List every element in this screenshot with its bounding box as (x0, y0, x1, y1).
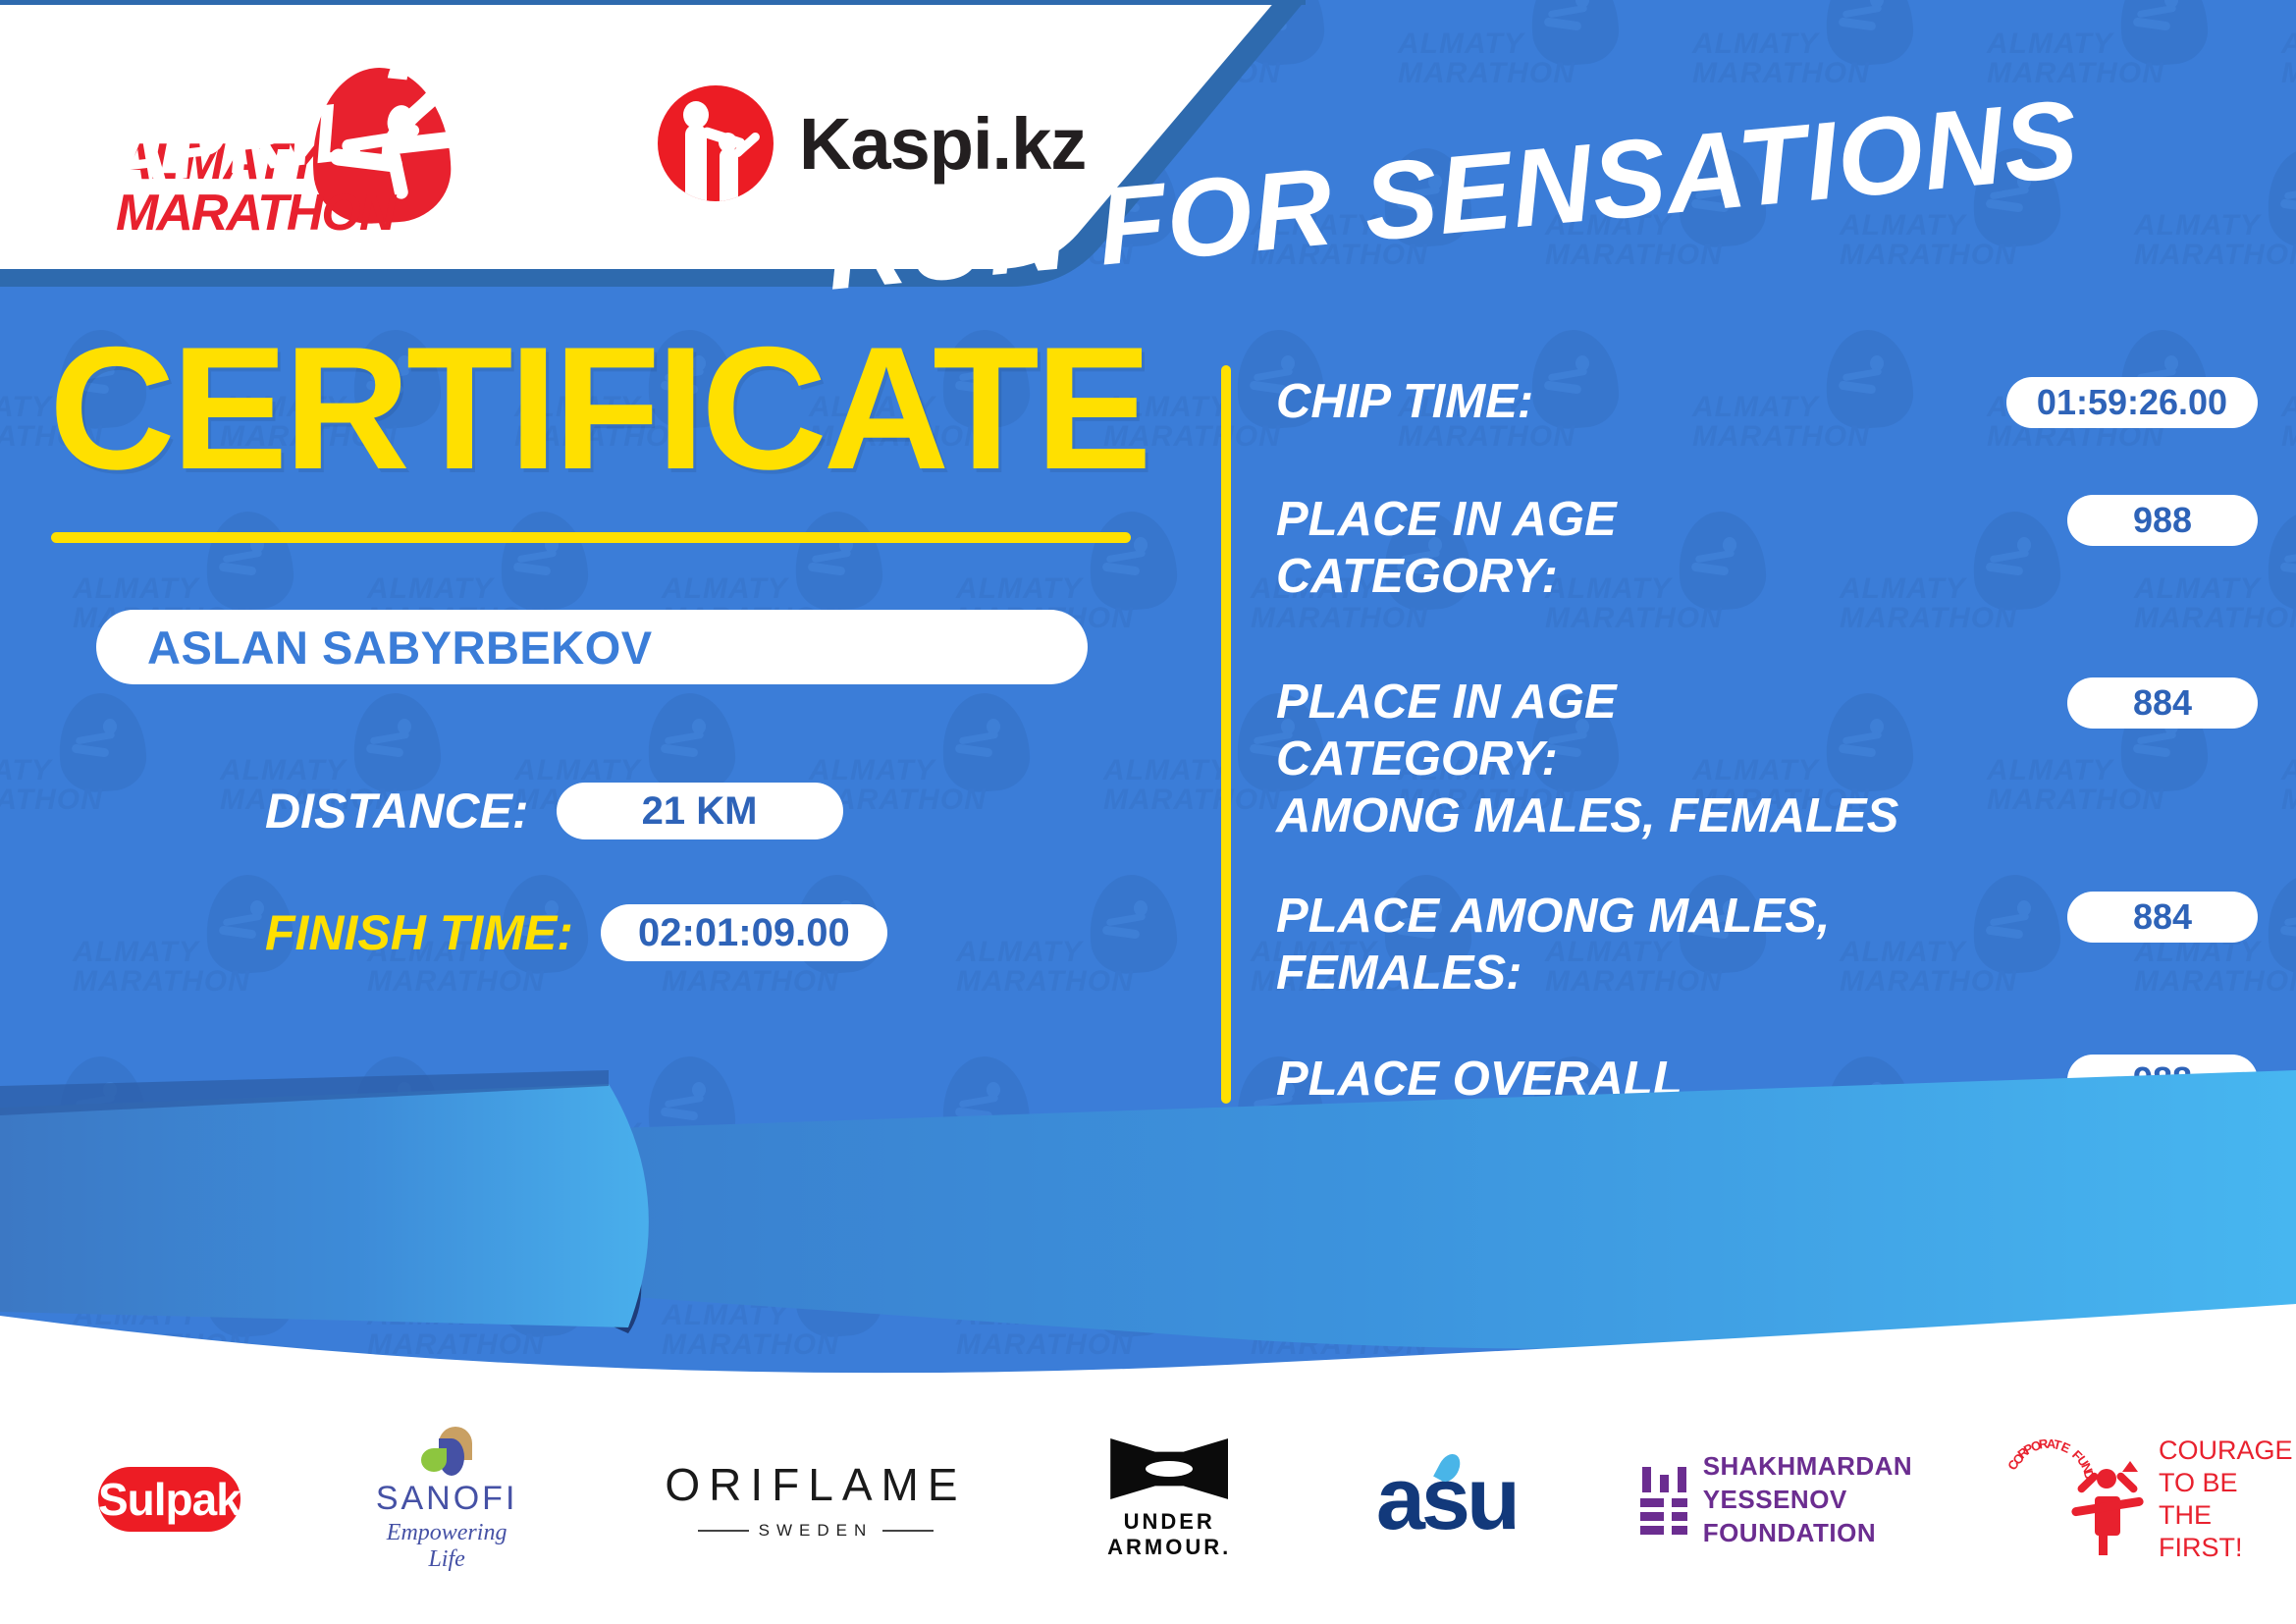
watermark-drop-icon (2265, 872, 2296, 976)
corporate-fund-arc-text: CORPORATE FUND (2010, 1442, 2079, 1511)
page-title: CERTIFICATE (49, 324, 1178, 493)
courage-line-1: COURAGE (2159, 1435, 2296, 1467)
finish-time-row: FINISH TIME: 02:01:09.00 (265, 904, 1178, 961)
stat-label-line: FEMALES: (1276, 945, 1830, 1001)
yessenov-glyph-icon (1638, 1467, 1678, 1532)
watermark-drop-icon (2117, 0, 2211, 68)
watermark-drop-icon (2265, 509, 2296, 613)
kaspi-people-icon (658, 85, 774, 201)
watermark-tile: ALMATYMARATHON (2277, 687, 2296, 869)
stat-label: CHIP TIME: (1276, 373, 1533, 430)
stat-value-pill: 01:59:26.00 (2006, 377, 2258, 428)
certificate-left-column: CERTIFICATE ASLAN SABYRBEKOV DISTANCE: 2… (0, 324, 1178, 961)
sanofi-mark-icon (417, 1427, 476, 1476)
sponsor-logo-asu: asu (1376, 1455, 1517, 1543)
finish-time-label: FINISH TIME: (265, 904, 573, 961)
watermark-runner-icon (2282, 178, 2296, 211)
distance-row: DISTANCE: 21 KM (265, 783, 1178, 839)
participant-name-field: ASLAN SABYRBEKOV (96, 610, 1088, 684)
oriflame-wordmark: ORIFLAME (665, 1458, 966, 1511)
watermark-line-2: MARATHON (2281, 59, 2296, 88)
event-ribbon (0, 1070, 2296, 1404)
stat-value: 01:59:26.00 (2037, 382, 2227, 423)
watermark-runner-icon (2282, 904, 2296, 938)
watermark-line-1: ALMATY (1398, 29, 1524, 59)
watermark-line-1: ALMATY (1987, 29, 2113, 59)
yessenov-wordmark: SHAKHMARDAN YESSENOV FOUNDATION (1703, 1449, 1935, 1549)
stat-row: CHIP TIME:01:59:26.00 (1276, 373, 2258, 430)
watermark-drop-icon (1823, 0, 1916, 68)
watermark-runner-icon (1546, 0, 1597, 29)
sponsor-logo-courage-fund: CORPORATE FUND COURAGE TO BE THE FIRST! (2028, 1435, 2296, 1564)
watermark-line-1: ALMATY (2281, 393, 2296, 422)
watermark-line-2: MARATHON (2281, 785, 2296, 815)
sanofi-tagline: Empowering Life (376, 1520, 518, 1573)
distance-value-pill: 21 KM (557, 783, 843, 839)
watermark-line-2: MARATHON (367, 967, 545, 997)
yessenov-line-1: SHAKHMARDAN YESSENOV (1703, 1449, 1935, 1516)
sponsor-logo-yessenov-foundation: SHAKHMARDAN YESSENOV FOUNDATION (1638, 1449, 1935, 1549)
stat-label-line: PLACE IN AGE CATEGORY: (1276, 674, 1904, 787)
event-day: 21 (371, 30, 541, 165)
watermark-line-2: MARATHON (2281, 422, 2296, 452)
stat-row: PLACE AMONG MALES,FEMALES:884 (1276, 888, 2258, 1001)
watermark-line-2: MARATHON (662, 967, 839, 997)
watermark-runner-icon (2282, 541, 2296, 574)
certificate-page: ALMATYMARATHONALMATYMARATHONALMATYMARATH… (0, 0, 2296, 1624)
stat-value: 884 (2133, 896, 2192, 938)
courage-wordmark: COURAGE TO BE THE FIRST! (2159, 1435, 2296, 1564)
sponsor-logo-sulpak: Sulpak (98, 1467, 240, 1532)
sponsor-logo-oriflame: ORIFLAME SWEDEN (665, 1458, 966, 1541)
courage-line-2: TO BE (2159, 1467, 2296, 1499)
stat-row: PLACE IN AGE CATEGORY:988 (1276, 491, 2258, 605)
stat-value: 988 (2133, 500, 2192, 541)
watermark-line-1: ALMATY (2281, 756, 2296, 785)
stat-label-line: PLACE IN AGE CATEGORY: (1276, 491, 1904, 605)
participant-name-value: ASLAN SABYRBEKOV (147, 621, 653, 675)
finish-time-value-pill: 02:01:09.00 (601, 904, 887, 961)
sponsor-logo-under-armour: UNDER ARMOUR. (1100, 1438, 1239, 1560)
title-divider (51, 532, 1131, 543)
divider-line-right (882, 1530, 934, 1532)
yessenov-line-2: FOUNDATION (1703, 1516, 1935, 1549)
oriflame-sub: SWEDEN (665, 1521, 966, 1541)
stat-value-pill: 988 (2067, 495, 2258, 546)
sponsor-bar: Sulpak SANOFI Empowering Life ORIFLAME S… (0, 1375, 2296, 1624)
watermark-runner-icon (2135, 0, 2186, 29)
watermark-drop-icon (1528, 0, 1622, 68)
watermark-line-2: MARATHON (73, 967, 250, 997)
finish-time-value: 02:01:09.00 (638, 911, 850, 955)
column-divider (1221, 365, 1231, 1104)
under-armour-bow-icon (1110, 1438, 1228, 1499)
stat-value-pill: 884 (2067, 677, 2258, 729)
divider-line-left (698, 1530, 749, 1532)
stat-label-line: CHIP TIME: (1276, 373, 1533, 430)
watermark-line-2: MARATHON (1692, 59, 1870, 88)
watermark-line-1: ALMATY (2134, 211, 2261, 241)
under-armour-wordmark: UNDER ARMOUR. (1100, 1509, 1239, 1560)
stat-value-pill: 884 (2067, 892, 2258, 943)
stat-label-line: PLACE AMONG MALES, (1276, 888, 1830, 945)
watermark-line-2: MARATHON (2134, 241, 2296, 270)
distance-label: DISTANCE: (265, 783, 529, 839)
courage-line-3: THE FIRST! (2159, 1499, 2296, 1564)
stat-label: PLACE IN AGE CATEGORY: (1276, 491, 1904, 605)
watermark-line-2: MARATHON (956, 967, 1134, 997)
watermark-line-2: MARATHON (1398, 59, 1575, 88)
courage-figure-icon (2071, 1457, 2141, 1542)
sponsor-logo-sanofi: SANOFI Empowering Life (376, 1427, 518, 1573)
stat-row: PLACE IN AGE CATEGORY:AMONG MALES, FEMAL… (1276, 674, 2258, 844)
stat-label: PLACE AMONG MALES,FEMALES: (1276, 888, 1830, 1001)
watermark-tile: ALMATYMARATHON (2277, 0, 2296, 142)
watermark-line-1: ALMATY (2281, 29, 2296, 59)
stat-label: PLACE IN AGE CATEGORY:AMONG MALES, FEMAL… (1276, 674, 1904, 844)
sanofi-wordmark: SANOFI (376, 1480, 518, 1518)
watermark-line-1: ALMATY (1692, 29, 1819, 59)
watermark-line-2: MARATHON (1840, 241, 2017, 270)
event-day-ordinal: st (538, 77, 600, 152)
watermark-tile: ALMATYMARATHON (2130, 142, 2296, 324)
watermark-drop-icon (2265, 145, 2296, 249)
stat-label-line: AMONG MALES, FEMALES (1276, 787, 1904, 844)
distance-value: 21 KM (642, 789, 758, 834)
stat-value: 884 (2133, 682, 2192, 724)
watermark-tile: ALMATYMARATHON (2277, 324, 2296, 506)
oriflame-tagline: SWEDEN (759, 1521, 874, 1541)
watermark-runner-icon (1841, 0, 1892, 29)
